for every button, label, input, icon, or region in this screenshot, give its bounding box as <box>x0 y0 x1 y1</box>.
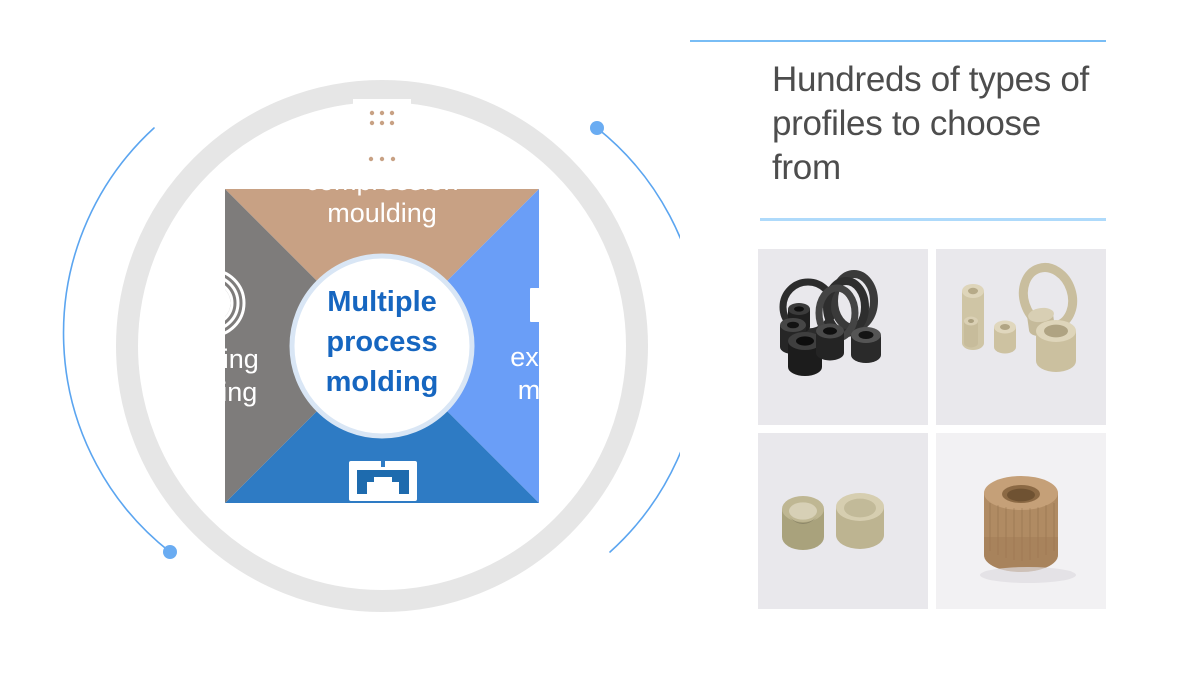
accent-dot-bottom-left <box>163 545 177 559</box>
center-label: Multiple process molding <box>326 286 439 398</box>
extrusion-die-icon <box>530 278 604 322</box>
label-winding-line1: Winding <box>161 344 259 374</box>
center-label-line3: molding <box>326 366 439 398</box>
process-wheel-svg: compression moulding extrusion molding I… <box>0 0 680 692</box>
right-panel: Hundreds of types of profiles to choose … <box>690 0 1200 692</box>
center-label-line2: process <box>326 326 437 358</box>
product-gallery <box>758 249 1106 615</box>
divider-top <box>690 40 1106 42</box>
label-injection-line2: molding <box>338 549 433 579</box>
bronze-filament-wound-bushing-photo <box>936 433 1106 609</box>
black-composite-bushings-photo <box>758 249 928 425</box>
process-wheel-diagram: compression moulding extrusion molding I… <box>0 0 680 692</box>
divider-bottom <box>760 218 1106 221</box>
tan-peek-bushings-photo <box>936 249 1106 425</box>
label-compression-line1: compression <box>305 166 458 196</box>
label-injection-line1: Injection <box>335 516 436 546</box>
compression-press-icon <box>353 99 417 165</box>
page-title: Hundreds of types of profiles to choose … <box>772 58 1112 190</box>
label-compression-line2: moulding <box>327 198 437 228</box>
gallery-item-2[interactable] <box>936 249 1106 425</box>
gallery-item-3[interactable] <box>758 433 928 609</box>
center-label-line1: Multiple <box>327 286 437 318</box>
label-extrusion-line2: molding <box>518 375 613 405</box>
fabric-lined-rings-photo <box>758 433 928 609</box>
label-winding-line2: molding <box>163 377 258 407</box>
gallery-item-4[interactable] <box>936 433 1106 609</box>
accent-dot-top-right <box>590 121 604 135</box>
label-extrusion-line1: extrusion <box>510 342 620 372</box>
gallery-item-1[interactable] <box>758 249 928 425</box>
injection-mold-icon <box>349 455 417 501</box>
